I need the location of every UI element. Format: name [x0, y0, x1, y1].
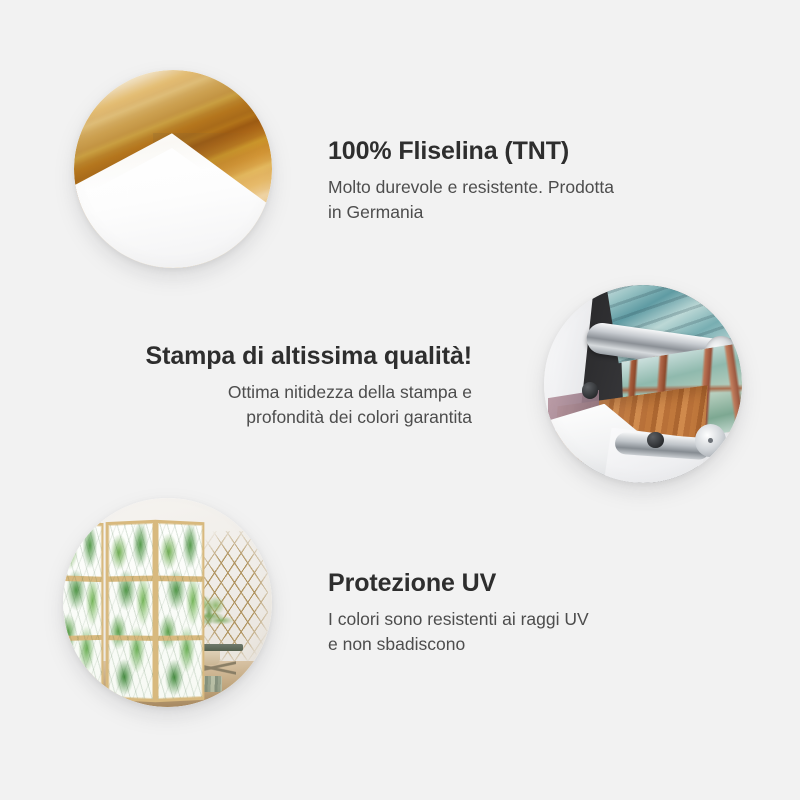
- machine-knob-upper: [582, 382, 599, 399]
- folding-room-divider: [63, 521, 205, 701]
- feature-text-stampa: Stampa di altissima qualità! Ottima niti…: [132, 341, 472, 431]
- feature-text-fliselina: 100% Fliselina (TNT) Molto durevole e re…: [328, 136, 668, 226]
- feature-description-protezione-uv: I colori sono resistenti ai raggi UV e n…: [328, 607, 668, 658]
- wallpaper-roll-peel-image: [74, 70, 272, 268]
- feature-description-line-2: profondità dei colori garantita: [132, 405, 472, 430]
- wallpaper-image-inner: [74, 70, 272, 268]
- feature-text-protezione-uv: Protezione UV I colori sono resistenti a…: [328, 568, 668, 658]
- feature-description-stampa: Ottima nitidezza della stampa e profondi…: [132, 380, 472, 431]
- feature-description-line-2: in Germania: [328, 200, 668, 225]
- feature-title-protezione-uv: Protezione UV: [328, 568, 668, 598]
- feature-title-stampa: Stampa di altissima qualità!: [132, 341, 472, 371]
- divider-image-inner: [63, 498, 272, 707]
- divider-panel-2: [105, 520, 155, 702]
- feature-description-line-2: e non sbadiscono: [328, 632, 668, 657]
- feature-description-line-1: Ottima nitidezza della stampa e: [132, 380, 472, 405]
- feature-description-line-1: Molto durevole e resistente. Prodotta: [328, 175, 668, 200]
- roller-end-cap-lower: [695, 424, 727, 458]
- room-divider-image: [63, 498, 272, 707]
- feature-description-fliselina: Molto durevole e resistente. Prodotta in…: [328, 175, 668, 226]
- feature-title-fliselina: 100% Fliselina (TNT): [328, 136, 668, 166]
- divider-panel-1: [63, 519, 103, 703]
- printing-machine-image: [544, 285, 742, 483]
- divider-panel-3: [155, 520, 205, 702]
- printer-image-inner: [544, 285, 742, 483]
- feature-description-line-1: I colori sono resistenti ai raggi UV: [328, 607, 668, 632]
- machine-knob-lower: [647, 432, 664, 449]
- feature-panel: 100% Fliselina (TNT) Molto durevole e re…: [0, 0, 800, 800]
